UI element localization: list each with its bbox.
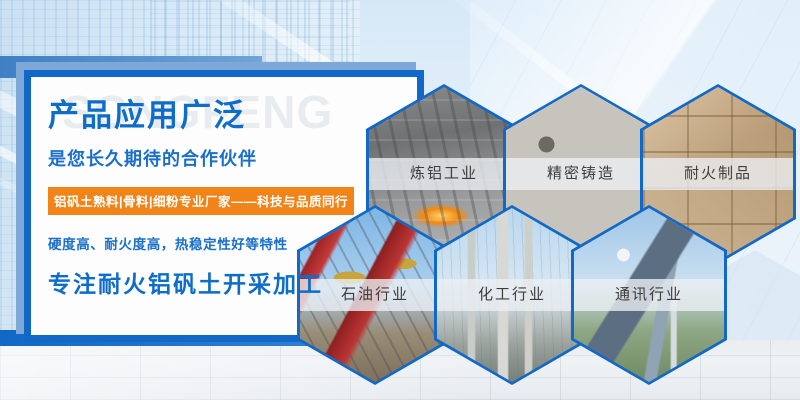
hexagon-caption: 耐火制品 [643, 158, 793, 190]
hexagon-caption: 化工行业 [437, 279, 587, 311]
headline-copy-block: SONGFENG 产品应用广泛 是您长久期待的合作伙伴 铝矾土熟料|骨料|细粉专… [48, 86, 378, 299]
hexagon-caption: 炼铝工业 [369, 158, 519, 190]
hexagon-caption: 通讯行业 [574, 279, 724, 311]
status-badge: 铝矾土熟料|骨料|细粉专业厂家——科技与品质同行 [48, 187, 354, 215]
page-title: 产品应用广泛 [48, 100, 378, 133]
feature-text: 硬度高、耐火度高，热稳定性好等特性 [48, 233, 378, 253]
focus-statement: 专注耐火铝矾土开采加工 [48, 265, 378, 299]
hexagon-caption: 精密铸造 [506, 158, 656, 190]
page-subtitle: 是您长久期待的合作伙伴 [48, 145, 378, 171]
product-application-banner: 炼铝工业 精密铸造 耐火制品 石油行业 化工行业 [0, 0, 800, 400]
